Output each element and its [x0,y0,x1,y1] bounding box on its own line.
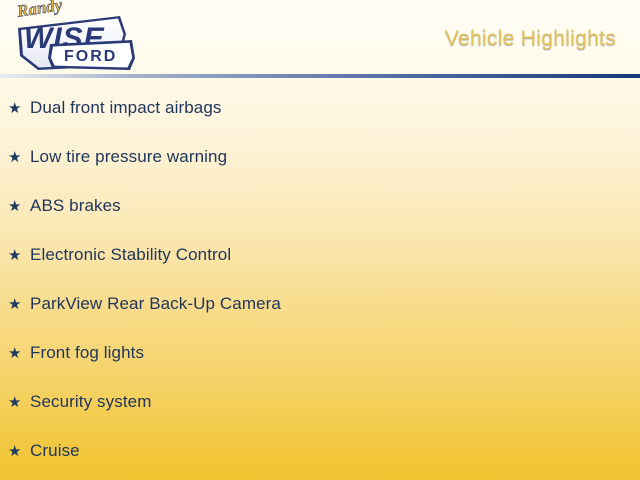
star-icon: ★ [8,444,30,459]
list-item: ★ Dual front impact airbags [8,95,221,121]
header-banner: WISE Randy FORD Vehicle Highlights [0,0,640,78]
page-title: Vehicle Highlights [445,27,616,51]
list-item-label: Electronic Stability Control [30,245,231,265]
star-icon: ★ [8,150,30,165]
logo-ford-text: FORD [64,48,117,65]
star-icon: ★ [8,199,30,214]
list-item-label: Dual front impact airbags [30,98,221,118]
list-item-label: Low tire pressure warning [30,147,227,167]
list-item: ★ Cruise [8,438,80,464]
star-icon: ★ [8,248,30,263]
list-item: ★ Security system [8,389,151,415]
list-item-label: Security system [30,392,151,412]
list-item-label: ABS brakes [30,196,121,216]
list-item-label: Front fog lights [30,343,144,363]
logo-ford-banner: FORD [48,40,135,70]
vehicle-highlights-slide: WISE Randy FORD Vehicle Highlights ★ Dua… [0,0,640,480]
list-item: ★ ParkView Rear Back-Up Camera [8,291,281,317]
star-icon: ★ [8,297,30,312]
vehicle-highlights-list: ★ Dual front impact airbags ★ Low tire p… [0,78,640,480]
star-icon: ★ [8,101,30,116]
star-icon: ★ [8,395,30,410]
list-item: ★ Electronic Stability Control [8,242,231,268]
logo-randy-text: Randy [15,0,64,21]
randy-wise-ford-logo: WISE Randy FORD [4,0,140,78]
list-item: ★ Front fog lights [8,340,144,366]
list-item: ★ Low tire pressure warning [8,144,227,170]
star-icon: ★ [8,346,30,361]
list-item-label: ParkView Rear Back-Up Camera [30,294,281,314]
list-item-label: Cruise [30,441,80,461]
list-item: ★ ABS brakes [8,193,121,219]
